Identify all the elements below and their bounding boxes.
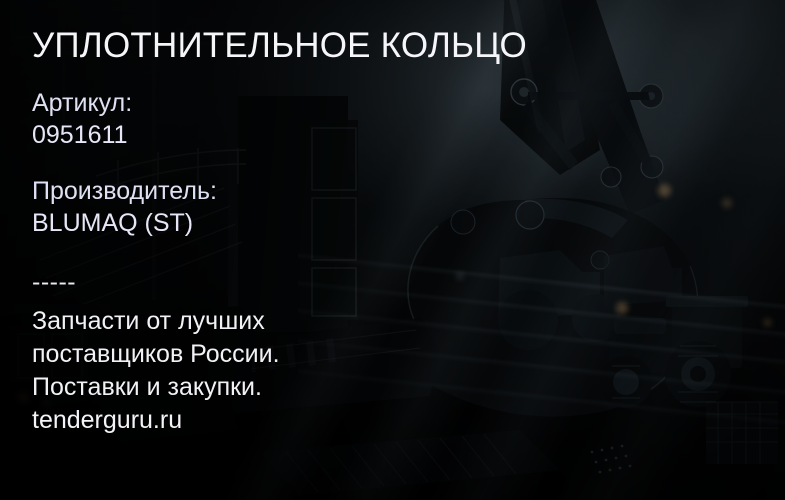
article-value: 0951611 [32, 120, 132, 152]
article-label: Артикул: [32, 88, 132, 120]
promo-text-block: Запчасти от лучших поставщиков России. П… [32, 305, 280, 437]
promo-line-2: поставщиков России. [32, 338, 280, 371]
product-title: УПЛОТНИТЕЛЬНОЕ КОЛЬЦО [32, 26, 527, 65]
promo-website-url: tenderguru.ru [32, 404, 280, 437]
field-article-number: Артикул: 0951611 [32, 88, 132, 151]
banner-content: УПЛОТНИТЕЛЬНОЕ КОЛЬЦО Артикул: 0951611 П… [32, 0, 512, 500]
section-divider: ----- [32, 270, 76, 295]
promo-line-1: Запчасти от лучших [32, 305, 280, 338]
product-banner: УПЛОТНИТЕЛЬНОЕ КОЛЬЦО Артикул: 0951611 П… [0, 0, 785, 500]
promo-line-3: Поставки и закупки. [32, 371, 280, 404]
manufacturer-label: Производитель: [32, 176, 217, 208]
field-manufacturer: Производитель: BLUMAQ (ST) [32, 176, 217, 239]
manufacturer-value: BLUMAQ (ST) [32, 208, 217, 240]
